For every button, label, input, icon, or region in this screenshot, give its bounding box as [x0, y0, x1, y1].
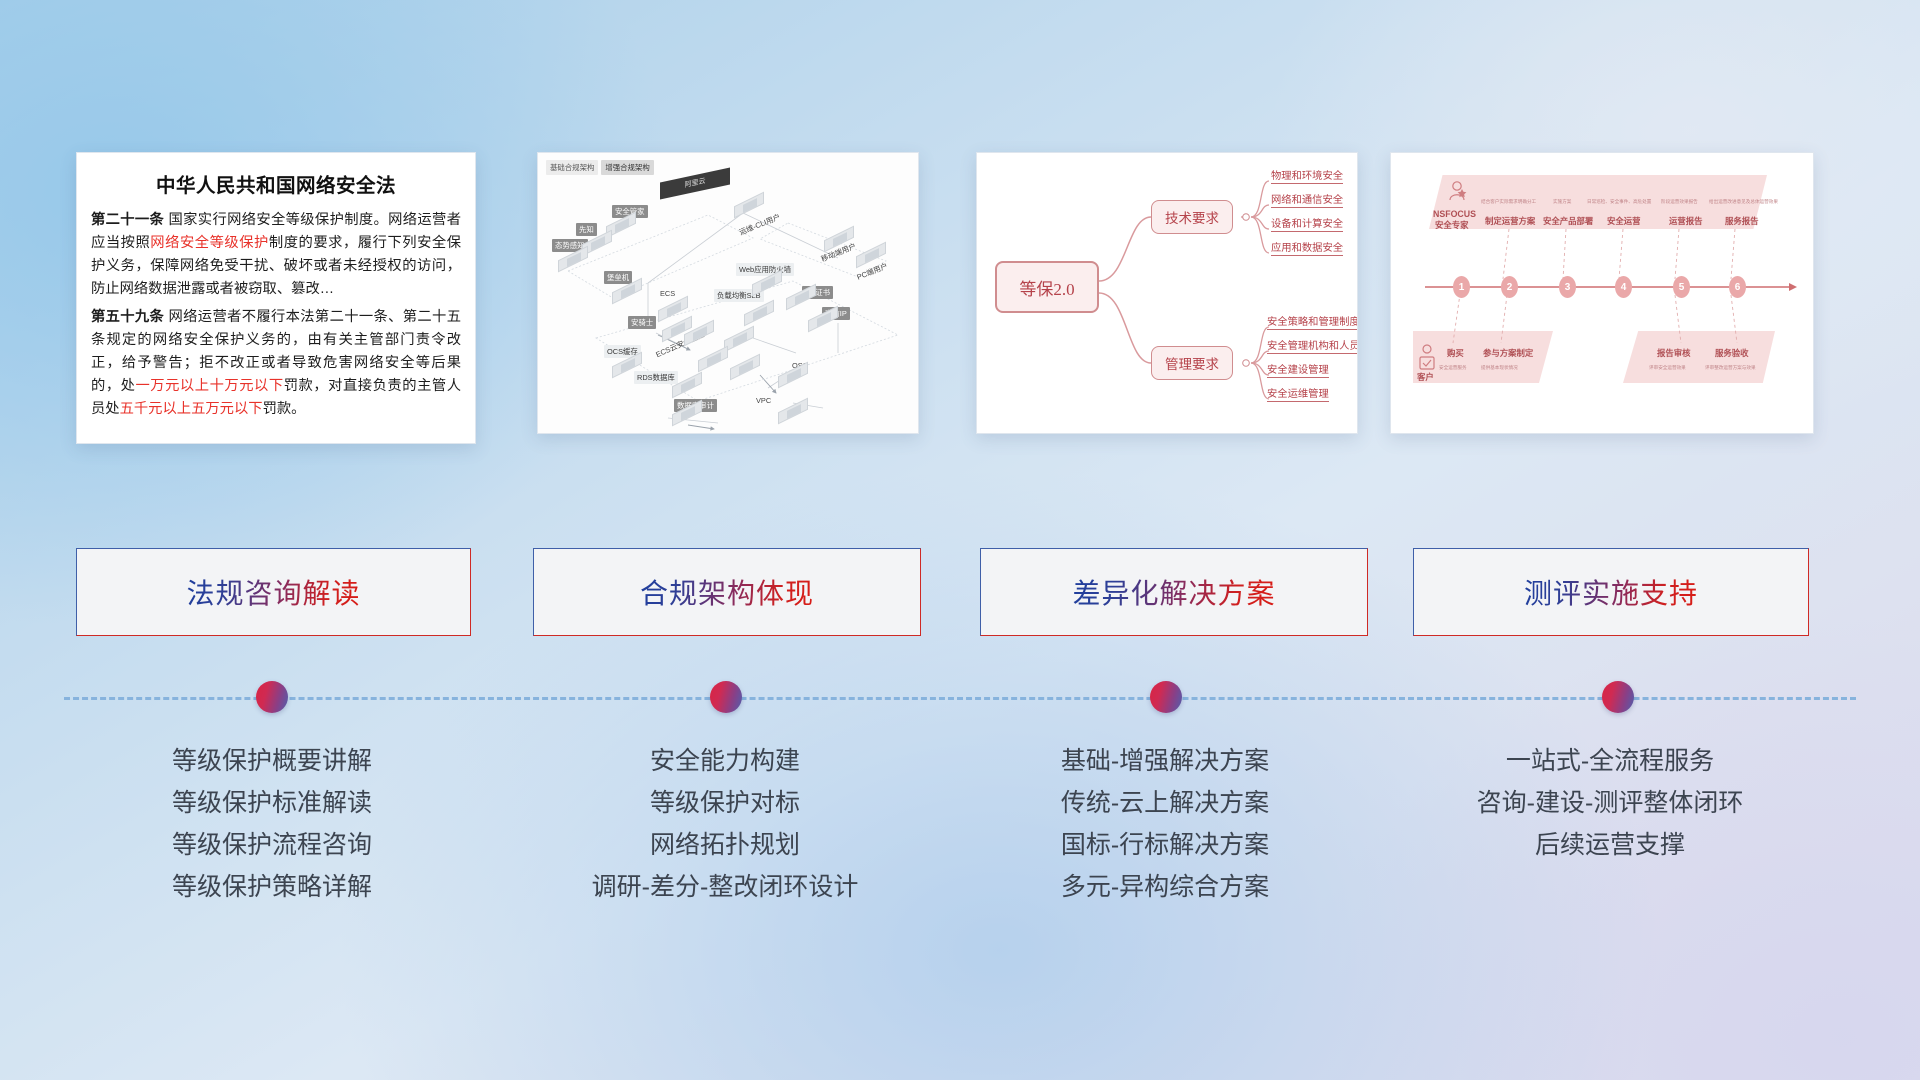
bullet-item: 等级保护对标 — [515, 782, 935, 824]
bullet-item: 国标-行标解决方案 — [955, 824, 1375, 866]
bullet-column-2: 安全能力构建 等级保护对标 网络拓扑规划 调研-差分-整改闭环设计 — [515, 740, 935, 908]
bullet-column-1: 等级保护概要讲解 等级保护标准解读 等级保护流程咨询 等级保护策略详解 — [62, 740, 482, 908]
bullet-item: 多元-异构综合方案 — [955, 866, 1375, 908]
timeline-marker-1 — [256, 681, 288, 713]
heading-label-1: 法规咨询解读 — [186, 572, 360, 612]
heading-box-differentiated-solution[interactable]: 差异化解决方案 — [980, 548, 1368, 636]
heading-label-2: 合规架构体现 — [640, 572, 814, 612]
timeline-marker-4 — [1602, 681, 1634, 713]
bullet-item: 等级保护标准解读 — [62, 782, 482, 824]
bullet-column-3: 基础-增强解决方案 传统-云上解决方案 国标-行标解决方案 多元-异构综合方案 — [955, 740, 1375, 908]
timeline-dashed-line — [64, 697, 1856, 700]
bullet-item: 传统-云上解决方案 — [955, 782, 1375, 824]
bullet-item: 咨询-建设-测评整体闭环 — [1400, 782, 1820, 824]
bullet-item: 等级保护概要讲解 — [62, 740, 482, 782]
bullet-item: 等级保护流程咨询 — [62, 824, 482, 866]
heading-label-3: 差异化解决方案 — [1072, 572, 1275, 612]
slide-canvas: 中华人民共和国网络安全法 第二十一条 国家实行网络安全等级保护制度。网络运营者应… — [0, 0, 1920, 1080]
timeline-marker-2 — [710, 681, 742, 713]
bullet-item: 一站式-全流程服务 — [1400, 740, 1820, 782]
timeline-marker-3 — [1150, 681, 1182, 713]
bullet-item: 基础-增强解决方案 — [955, 740, 1375, 782]
bullet-item: 网络拓扑规划 — [515, 824, 935, 866]
heading-box-regulation-consulting[interactable]: 法规咨询解读 — [76, 548, 471, 636]
heading-label-4: 测评实施支持 — [1524, 572, 1698, 612]
bullet-item: 后续运营支撑 — [1400, 824, 1820, 866]
heading-box-compliance-architecture[interactable]: 合规架构体现 — [533, 548, 921, 636]
bullet-item: 安全能力构建 — [515, 740, 935, 782]
bullet-item: 调研-差分-整改闭环设计 — [515, 866, 935, 908]
bullet-item: 等级保护策略详解 — [62, 866, 482, 908]
heading-box-assessment-support[interactable]: 测评实施支持 — [1413, 548, 1809, 636]
bullet-column-4: 一站式-全流程服务 咨询-建设-测评整体闭环 后续运营支撑 — [1400, 740, 1820, 866]
heading-row: 法规咨询解读 合规架构体现 差异化解决方案 测评实施支持 — [0, 0, 1920, 1080]
